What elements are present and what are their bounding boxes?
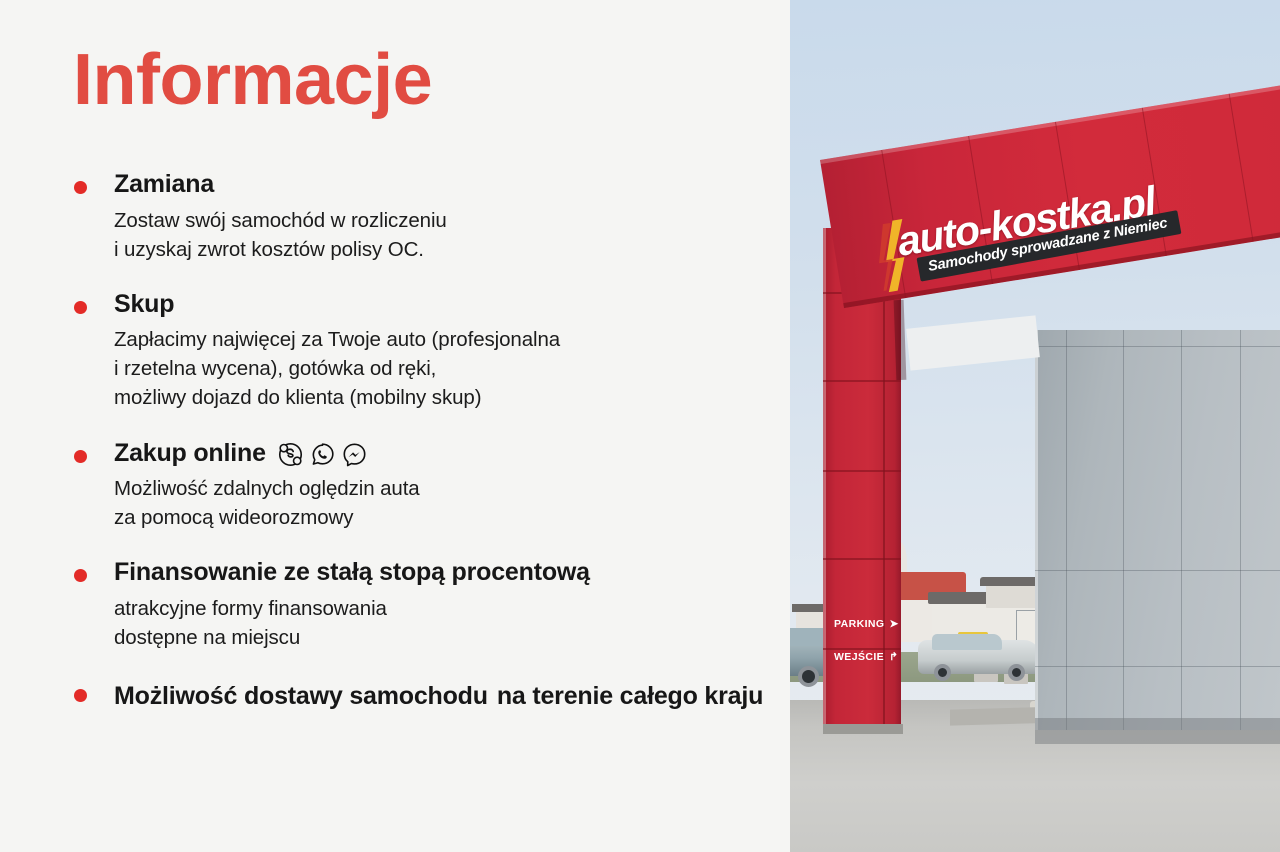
- parking-sign: PARKING ➤: [834, 618, 899, 630]
- car-wheel: [1008, 664, 1025, 681]
- skype-icon[interactable]: [278, 442, 303, 467]
- whatsapp-icon[interactable]: [310, 442, 335, 467]
- body-line: dostępne na miejscu: [114, 623, 790, 652]
- bullet-dot-icon: [74, 569, 87, 582]
- house-building: [986, 584, 1038, 608]
- car-window: [932, 634, 1002, 650]
- social-icon-row: [278, 442, 367, 467]
- bullet-dot-icon: [74, 301, 87, 314]
- list-item-body: Zapłacimy najwięcej za Twoje auto (profe…: [114, 325, 790, 412]
- list-item: Zakup online: [0, 439, 790, 533]
- body-line: Zapłacimy najwięcej za Twoje auto (profe…: [114, 325, 790, 354]
- list-item-heading: Zakup online: [114, 439, 790, 469]
- body-line: i uzyskaj zwrot kosztów polisy OC.: [114, 235, 790, 264]
- list-item-heading-text: Skup: [114, 290, 174, 320]
- list-item-heading: Możliwość dostawy samochodu na terenie c…: [114, 678, 790, 715]
- body-line: możliwy dojazd do klienta (mobilny skup): [114, 383, 790, 412]
- bullet-dot-icon: [74, 689, 87, 702]
- entrance-sign: WEJŚCIE ↱: [834, 651, 898, 663]
- slide-root: Informacje Zamiana Zostaw swój samochód …: [0, 0, 1280, 852]
- list-item-heading: Finansowanie ze stałą stopą procentową: [114, 558, 790, 588]
- body-line: Zostaw swój samochód w rozliczeniu: [114, 206, 790, 235]
- parking-sign-label: PARKING: [834, 618, 884, 630]
- dealership-photo: PARKING ➤ WEJŚCIE ↱ auto-kostka.pl: [790, 0, 1280, 852]
- page-title: Informacje: [73, 44, 432, 116]
- body-line: atrakcyjne formy finansowania: [114, 594, 790, 623]
- car-wheel: [934, 664, 951, 681]
- list-item-heading-text: Finansowanie ze stałą stopą procentową: [114, 558, 590, 588]
- body-line: za pomocą wideorozmowy: [114, 503, 790, 532]
- list-item-heading-text: Zamiana: [114, 170, 214, 200]
- list-item-heading: Skup: [114, 290, 790, 320]
- body-line: i rzetelna wycena), gotówka od ręki,: [114, 354, 790, 383]
- pillar-base: [823, 724, 903, 734]
- car-wheel: [798, 666, 819, 687]
- list-item-heading-text: Zakup online: [114, 439, 266, 469]
- entrance-sign-label: WEJŚCIE: [834, 651, 884, 663]
- messenger-icon[interactable]: [342, 442, 367, 467]
- gray-cladding-wall: [1035, 330, 1280, 730]
- list-item: Finansowanie ze stałą stopą procentową a…: [0, 558, 790, 652]
- arrow-turn-icon: ↱: [889, 651, 898, 663]
- list-item-body: Zostaw swój samochód w rozliczeniu i uzy…: [114, 206, 790, 264]
- arrow-right-icon: ➤: [889, 618, 898, 630]
- list-item-body: Możliwość zdalnych oględzin auta za pomo…: [114, 474, 790, 532]
- bullet-list: Zamiana Zostaw swój samochód w rozliczen…: [0, 170, 790, 740]
- list-item-body: atrakcyjne formy finansowania dostępne n…: [114, 594, 790, 652]
- list-item: Skup Zapłacimy najwięcej za Twoje auto (…: [0, 290, 790, 413]
- bullet-dot-icon: [74, 450, 87, 463]
- wall-base-shadow: [1035, 718, 1280, 744]
- body-line: Możliwość zdalnych oględzin auta: [114, 474, 790, 503]
- list-item-heading-text: Możliwość dostawy samochodu: [114, 678, 488, 715]
- list-item: Możliwość dostawy samochodu na terenie c…: [0, 678, 790, 715]
- list-item-heading: Zamiana: [114, 170, 790, 200]
- list-item-heading-text: na terenie całego kraju: [497, 678, 763, 715]
- bullet-dot-icon: [74, 181, 87, 194]
- info-panel: Informacje Zamiana Zostaw swój samochód …: [0, 0, 790, 852]
- list-item: Zamiana Zostaw swój samochód w rozliczen…: [0, 170, 790, 264]
